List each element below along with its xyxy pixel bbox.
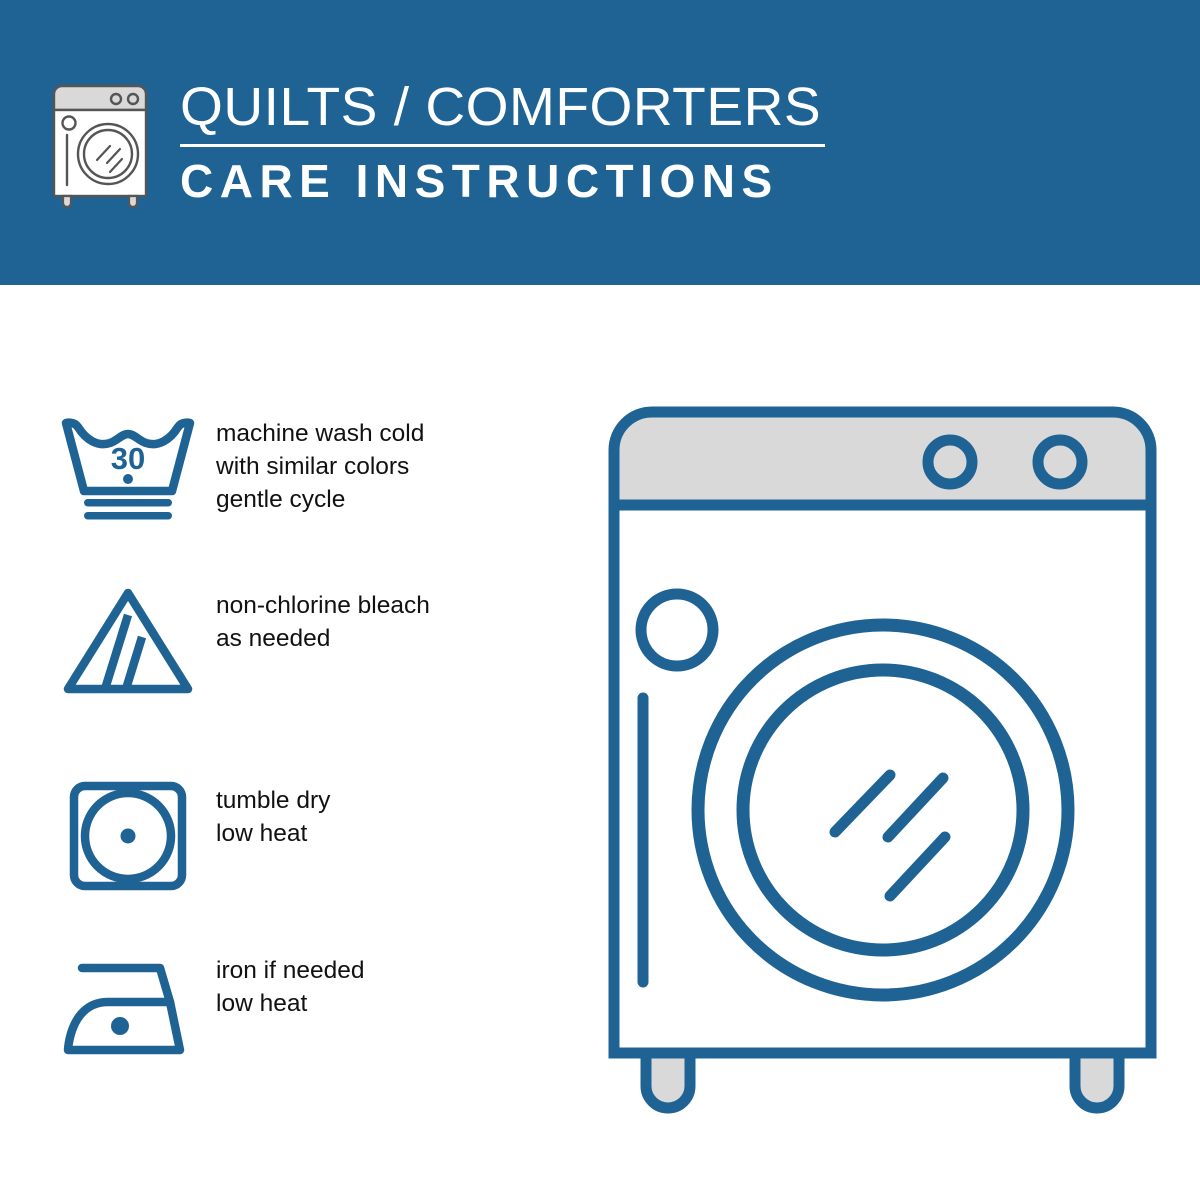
tumble-dry-low-icon bbox=[60, 780, 196, 892]
care-item-bleach: non-chlorine bleach as needed bbox=[60, 585, 530, 697]
non-chlorine-bleach-icon bbox=[60, 585, 196, 697]
door-latch-icon bbox=[641, 594, 713, 666]
wash-temp-label: 30 bbox=[111, 441, 145, 476]
control-knob-left bbox=[928, 440, 972, 484]
machine-foot-left bbox=[646, 1053, 690, 1108]
header-content: QUILTS / COMFORTERS CARE INSTRUCTIONS bbox=[52, 78, 828, 208]
care-item-machine-wash: 30 machine wash cold with similar colors… bbox=[60, 413, 530, 525]
care-item-tumble-dry: tumble dry low heat bbox=[60, 780, 530, 892]
washing-machine-icon bbox=[52, 80, 156, 208]
care-item-label: iron if needed low heat bbox=[216, 950, 364, 1020]
header-titles: QUILTS / COMFORTERS CARE INSTRUCTIONS bbox=[180, 78, 828, 206]
machine-wash-30-gentle-icon: 30 bbox=[60, 413, 196, 525]
page-title: QUILTS / COMFORTERS bbox=[180, 78, 841, 136]
title-divider bbox=[180, 144, 825, 147]
care-item-label: machine wash cold with similar colors ge… bbox=[216, 413, 424, 516]
page-subtitle: CARE INSTRUCTIONS bbox=[180, 156, 828, 206]
care-item-label: non-chlorine bleach as needed bbox=[216, 585, 430, 655]
control-knob-right bbox=[1038, 440, 1082, 484]
header-banner: QUILTS / COMFORTERS CARE INSTRUCTIONS bbox=[0, 0, 1200, 285]
door-inner-ring bbox=[743, 670, 1023, 950]
care-item-iron: iron if needed low heat bbox=[60, 950, 530, 1062]
care-instructions-list: 30 machine wash cold with similar colors… bbox=[0, 285, 560, 1200]
care-item-label: tumble dry low heat bbox=[216, 780, 330, 850]
iron-low-heat-icon bbox=[60, 950, 196, 1062]
machine-foot-right bbox=[1075, 1053, 1119, 1108]
washing-machine-illustration bbox=[600, 400, 1165, 1125]
